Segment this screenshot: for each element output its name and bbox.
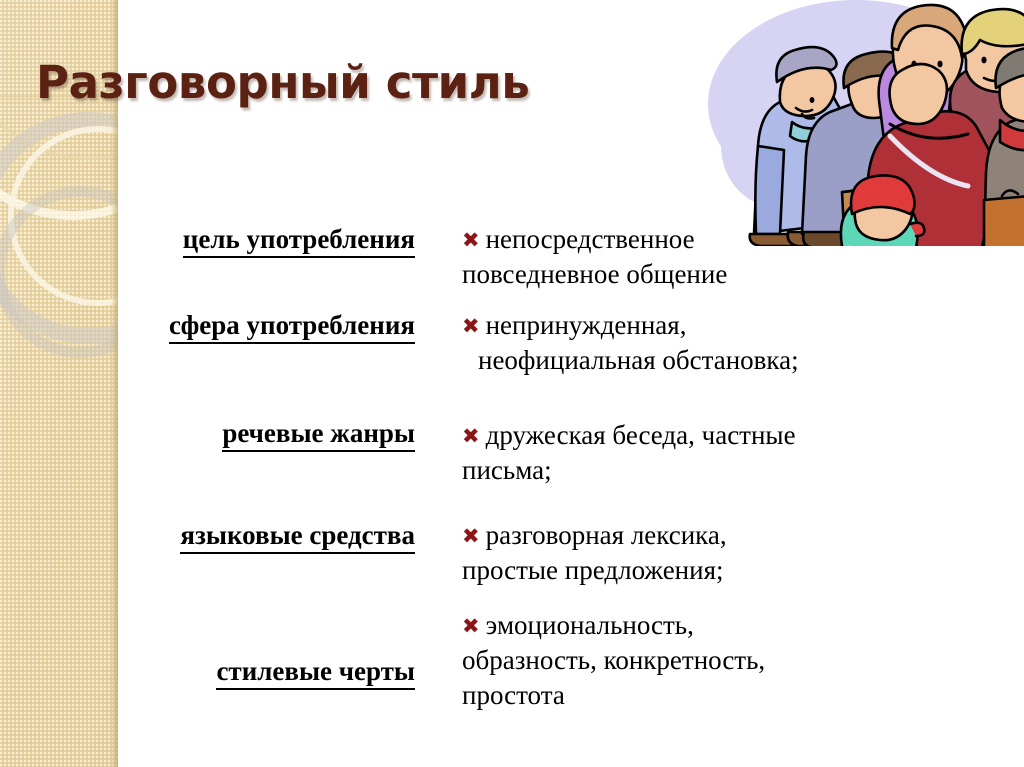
list-item: ✖разговорная лексика, простые предложени… xyxy=(462,518,957,588)
label-domain: сфера употребления xyxy=(169,310,415,344)
label-purpose: цель употребления xyxy=(183,224,415,258)
item-line-2: неофициальная обстановка; xyxy=(478,345,799,375)
item-line-2: повседневное общение xyxy=(462,259,727,289)
cross-bullet-icon: ✖ xyxy=(462,523,480,550)
item-line-3: простота xyxy=(462,680,565,710)
item-line-1: дружеская беседа, частные xyxy=(486,420,796,450)
label-column: цель употребления сфера употребления реч… xyxy=(0,0,420,767)
label-style-features: стилевые черты xyxy=(216,656,415,690)
slide-root: Разговорный стиль xyxy=(0,0,1024,767)
page-title: Разговорный стиль xyxy=(36,56,529,109)
list-item: ✖эмоциональность, образность, конкретнос… xyxy=(462,608,957,713)
item-line-1: эмоциональность, xyxy=(486,610,694,640)
list-item: ✖непринужденная, неофициальная обстановк… xyxy=(462,308,957,378)
label-speech-genres: речевые жанры xyxy=(222,418,415,452)
item-line-2: образность, конкретность, xyxy=(462,645,765,675)
item-line-2: письма; xyxy=(462,455,552,485)
item-line-1: непринужденная, xyxy=(486,310,687,340)
cross-bullet-icon: ✖ xyxy=(462,423,480,450)
cross-bullet-icon: ✖ xyxy=(462,227,480,254)
item-line-2: простые предложения; xyxy=(462,555,724,585)
group-of-people-talking-illustration xyxy=(684,0,1024,246)
cross-bullet-icon: ✖ xyxy=(462,613,480,640)
list-item: ✖дружеская беседа, частные письма; xyxy=(462,418,957,488)
item-line-1: разговорная лексика, xyxy=(486,520,727,550)
cross-bullet-icon: ✖ xyxy=(462,313,480,340)
label-language-means: языковые средства xyxy=(180,520,415,554)
item-line-1: непосредственное xyxy=(486,224,695,254)
